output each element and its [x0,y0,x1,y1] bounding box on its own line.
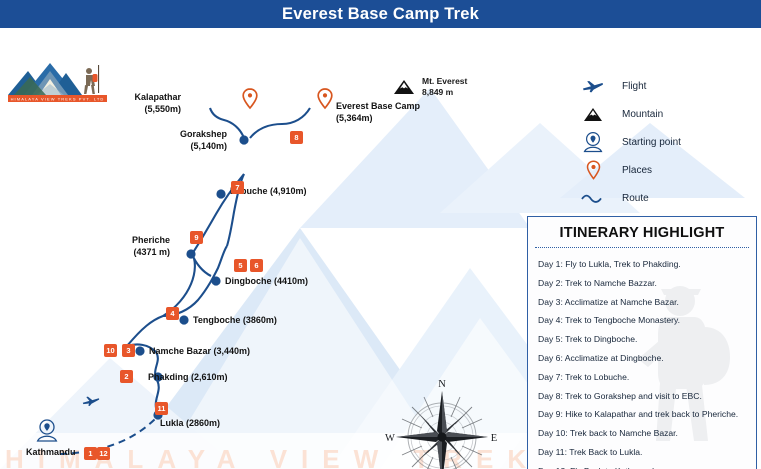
itinerary-item: Day 9: Hike to Kalapathar and trek back … [538,405,746,424]
waypoint-dingboche [211,276,220,285]
day-badge-11: 11 [155,402,168,415]
place-label-tengboche: Tengboche (3860m) [193,315,277,327]
day-badge-12: 12 [97,447,110,460]
itinerary-item: Day 12: Fly Back to Kathmandu. [538,462,746,469]
waypoint-gorakshep [239,135,248,144]
itinerary-item: Day 8: Trek to Gorakshep and visit to EB… [538,386,746,405]
compass-east-label: E [491,433,497,444]
compass-west-label: W [385,433,395,444]
waypoint-namche-bazar [135,346,144,355]
itinerary-item: Day 4: Trek to Tengboche Monastery. [538,311,746,330]
day-badge-1: 1 [84,447,97,460]
itinerary-item: Day 3: Acclimatize at Namche Bazar. [538,293,746,312]
day-badge-9: 9 [190,231,203,244]
waypoint-lobuche [216,189,225,198]
place-label-lukla: Lukla (2860m) [160,418,220,430]
page-header: Everest Base Camp Trek [0,0,761,28]
day-badge-7: 7 [231,181,244,194]
day-badge-10: 10 [104,344,117,357]
place-label-kalapathar: Kalapathar (5,550m) [101,92,181,115]
place-label-everest-base-camp: Everest Base Camp (5,364m) [336,101,420,124]
place-label-namche-bazar: Namche Bazar (3,440m) [149,346,250,358]
itinerary-item: Day 1: Fly to Lukla, Trek to Phakding. [538,255,746,274]
place-label-dingboche: Dingboche (4410m) [225,276,308,288]
route-lukla-pheriche [127,254,211,414]
day-badge-8: 8 [290,131,303,144]
day-badge-2: 2 [120,370,133,383]
itinerary-item: Day 2: Trek to Namche Bazzar. [538,274,746,293]
day-badge-3: 3 [122,344,135,357]
compass-rose: N S E W [383,380,501,469]
day-badge-5: 5 [234,259,247,272]
itinerary-title: ITINERARY HIGHLIGHT [528,217,756,241]
page-title: Everest Base Camp Trek [282,5,479,24]
place-label-pheriche: Pheriche (4371 m) [95,235,170,258]
day-badge-6: 6 [250,259,263,272]
itinerary-item: Day 11: Trek Back to Lukla. [538,443,746,462]
flight-icon [83,397,99,406]
starting-point-icon [38,420,57,441]
itinerary-item: Day 7: Trek to Lobuche. [538,368,746,387]
place-label-phakding: Phakding (2,610m) [148,372,228,384]
waypoint-pheriche [186,249,195,258]
place-label-kathmandu: Kathmandu [26,447,76,459]
pin-marker-everest-base-camp [318,89,332,108]
itinerary-item: Day 6: Acclimatize at Dingboche. [538,349,746,368]
itinerary-list: Day 1: Fly to Lukla, Trek to Phakding. D… [528,248,756,469]
itinerary-item: Day 5: Trek to Dingboche. [538,330,746,349]
waypoint-tengboche [179,315,188,324]
pin-marker-kalapathar [243,89,257,108]
map-canvas: HIMALAYA VIEW TREKS P HIMALAYA VIEW TREK… [0,28,761,469]
itinerary-item: Day 10: Trek back to Namche Bazar. [538,424,746,443]
day-badge-4: 4 [166,307,179,320]
compass-north-label: N [438,380,446,390]
itinerary-panel: ITINERARY HIGHLIGHT Day 1: Fly to Lukla,… [527,216,757,469]
place-label-gorakshep: Gorakshep (5,140m) [142,129,227,152]
